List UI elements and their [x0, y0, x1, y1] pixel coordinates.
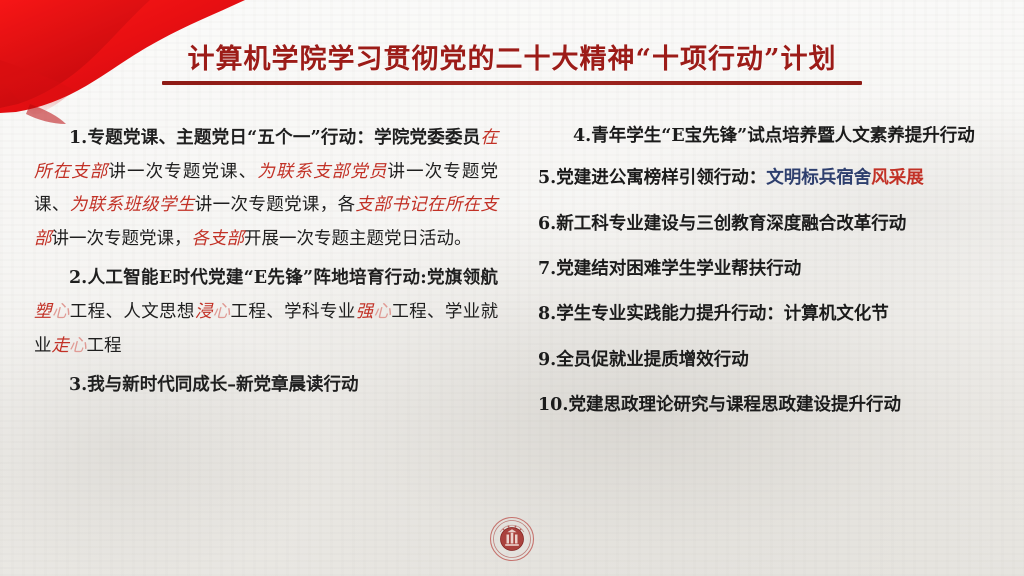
- item-1-seg-c: 讲一次专题党课、: [108, 162, 257, 182]
- item-1-seg-i: 讲一次专题党课，: [52, 229, 192, 249]
- item-9-text: 全员促就业提质增效行动: [556, 350, 749, 370]
- item-10-number: 10.: [538, 395, 568, 415]
- item-7-number: 7.: [538, 259, 556, 279]
- item-1-seg-g: 讲一次专题党课，各: [195, 195, 356, 215]
- item-1-seg-a: 专题党课、主题党日“五个一”行动：学院党委委员: [87, 128, 480, 148]
- item-6-number: 6.: [538, 214, 556, 234]
- content-columns: 1.专题党课、主题党日“五个一”行动：学院党委委员在所在支部讲一次专题党课、为联…: [0, 122, 1024, 512]
- title-underline: [162, 81, 862, 85]
- action-item-4: 4.青年学生“E宝先锋”试点培养暨人文素养提升行动: [538, 122, 1000, 150]
- item-5-seg-b: 文明标兵宿舍: [766, 168, 871, 188]
- action-item-5: 5.党建进公寓榜样引领行动：文明标兵宿舍风采展: [538, 164, 1000, 192]
- university-seal-svg: [489, 516, 535, 562]
- item-1-seg-j: 各支部: [192, 229, 245, 249]
- action-item-6: 6.新工科专业建设与三创教育深度融合改革行动: [538, 210, 1000, 238]
- item-8-text: 学生专业实践能力提升行动：计算机文化节: [556, 304, 889, 324]
- action-item-9: 9.全员促就业提质增效行动: [538, 346, 1000, 374]
- item-2-seg-g: 工程、学科专业: [231, 302, 356, 322]
- item-2-seg-m: 工程: [87, 336, 122, 356]
- item-10-text: 党建思政理论研究与课程思政建设提升行动: [568, 395, 901, 415]
- item-2-seg-f: 心: [213, 302, 231, 322]
- item-8-number: 8.: [538, 304, 556, 324]
- slide-title-block: 计算机学院学习贯彻党的二十大精神“十项行动”计划: [0, 44, 1024, 85]
- item-2-seg-d: 工程、人文思想: [70, 302, 195, 322]
- right-column: 4.青年学生“E宝先锋”试点培养暨人文素养提升行动 5.党建进公寓榜样引领行动：…: [512, 122, 1024, 512]
- item-7-text: 党建结对困难学生学业帮扶行动: [556, 259, 801, 279]
- item-2-seg-a: 人工智能E时代党建“E先锋”阵地培育行动:党旗领航: [87, 268, 498, 288]
- page-title: 计算机学院学习贯彻党的二十大精神“十项行动”计划: [187, 44, 836, 75]
- action-item-3: 3.我与新时代同成长–新党章晨读行动: [34, 369, 498, 403]
- item-3-text: 我与新时代同成长–新党章晨读行动: [87, 375, 358, 395]
- action-item-7: 7.党建结对困难学生学业帮扶行动: [538, 255, 1000, 283]
- action-item-8: 8.学生专业实践能力提升行动：计算机文化节: [538, 300, 1000, 328]
- item-5-number: 5.: [538, 168, 556, 188]
- presentation-slide: 计算机学院学习贯彻党的二十大精神“十项行动”计划 1.专题党课、主题党日“五个一…: [0, 0, 1024, 576]
- action-item-10: 10.党建思政理论研究与课程思政建设提升行动: [538, 391, 1000, 419]
- item-2-seg-e: 浸: [195, 302, 213, 322]
- item-2-seg-k: 走: [52, 336, 70, 356]
- item-2-seg-c: 心: [52, 302, 70, 322]
- item-4-number: 4.: [573, 126, 591, 146]
- item-9-number: 9.: [538, 350, 556, 370]
- action-item-1: 1.专题党课、主题党日“五个一”行动：学院党委委员在所在支部讲一次专题党课、为联…: [34, 122, 498, 256]
- item-2-seg-h: 强: [356, 302, 374, 322]
- item-6-text: 新工科专业建设与三创教育深度融合改革行动: [556, 214, 906, 234]
- item-2-seg-i: 心: [373, 302, 391, 322]
- item-1-seg-d: 为联系支部党员: [257, 162, 387, 182]
- item-5-seg-a: 党建进公寓榜样引领行动：: [556, 168, 766, 188]
- action-item-2: 2.人工智能E时代党建“E先锋”阵地培育行动:党旗领航塑心工程、人文思想浸心工程…: [34, 262, 498, 363]
- item-2-seg-b: 塑: [34, 302, 52, 322]
- item-1-seg-k: 开展一次专题主题党日活动。: [244, 229, 472, 249]
- item-4-text: 青年学生“E宝先锋”试点培养暨人文素养提升行动: [591, 126, 974, 146]
- item-2-seg-l: 心: [69, 336, 87, 356]
- item-5-seg-c: 风采展: [871, 168, 924, 188]
- item-1-seg-f: 为联系班级学生: [70, 195, 195, 215]
- left-column: 1.专题党课、主题党日“五个一”行动：学院党委委员在所在支部讲一次专题党课、为联…: [0, 122, 512, 512]
- item-2-number: 2.: [69, 268, 87, 288]
- item-1-number: 1.: [69, 128, 87, 148]
- university-seal-icon: [489, 516, 535, 562]
- item-3-number: 3.: [69, 375, 87, 395]
